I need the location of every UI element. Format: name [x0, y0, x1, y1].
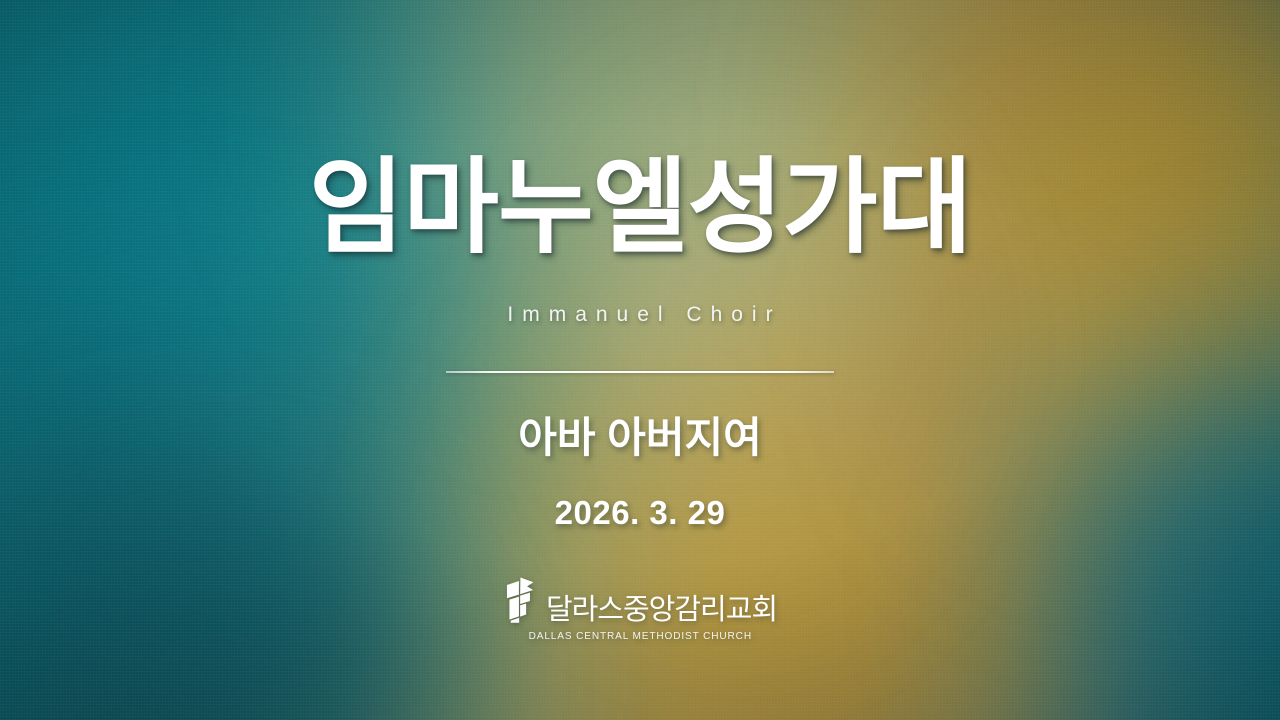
- choir-subtitle-romanized: Immanuel Choir: [0, 303, 1280, 327]
- church-name-korean: 달라스중앙감리교회: [546, 596, 777, 625]
- slide-content: 임마누엘성가대 Immanuel Choir 아바 아버지여 2026. 3. …: [0, 0, 1280, 720]
- divider-rule: [446, 371, 834, 373]
- logo-primary-row: 달라스중앙감리교회: [503, 576, 777, 625]
- service-date: 2026. 3. 29: [0, 494, 1280, 532]
- song-title: 아바 아버지여: [0, 404, 1280, 465]
- angular-cross-icon: [503, 576, 539, 624]
- church-logo-lockup: 달라스중앙감리교회 DALLAS CENTRAL METHODIST CHURC…: [503, 576, 777, 642]
- choir-title: 임마누엘성가대: [0, 152, 1280, 264]
- title-slide: 임마누엘성가대 Immanuel Choir 아바 아버지여 2026. 3. …: [0, 0, 1280, 720]
- church-name-english: DALLAS CENTRAL METHODIST CHURCH: [528, 630, 751, 642]
